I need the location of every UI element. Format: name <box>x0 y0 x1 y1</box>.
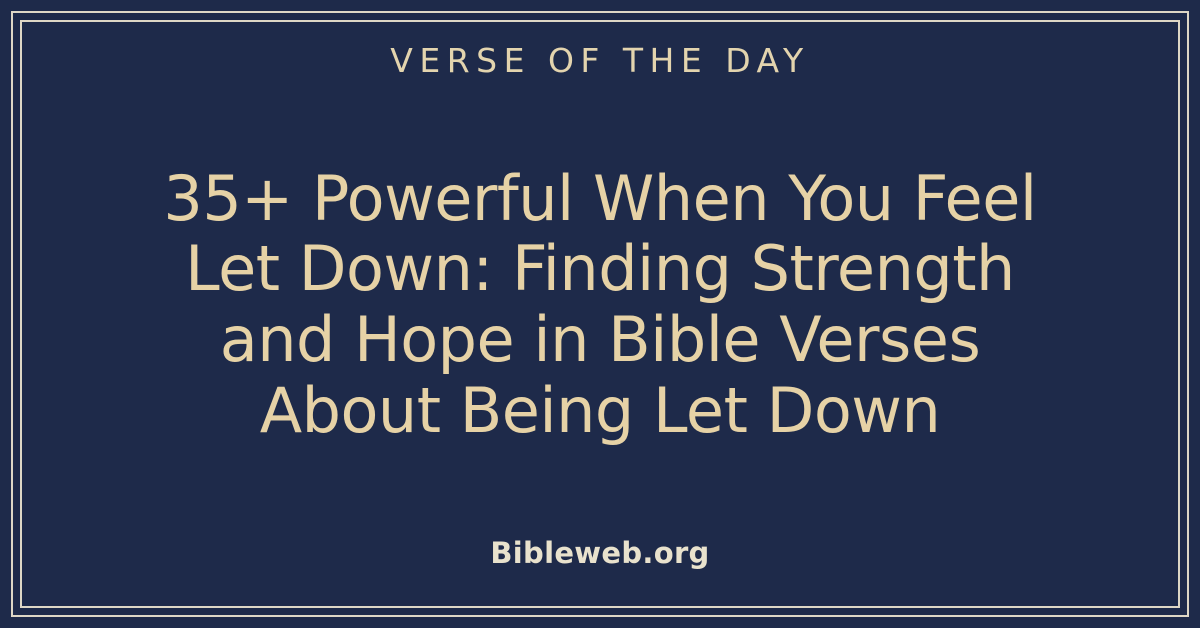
card-content: VERSE OF THE DAY 35+ Powerful When You F… <box>30 30 1170 598</box>
page-title: 35+ Powerful When You Feel Let Down: Fin… <box>95 164 1105 447</box>
title-line-4: About Being Let Down <box>95 376 1105 447</box>
title-block: 35+ Powerful When You Feel Let Down: Fin… <box>30 71 1170 539</box>
verse-of-the-day-card: VERSE OF THE DAY 35+ Powerful When You F… <box>0 0 1200 628</box>
title-line-1: 35+ Powerful When You Feel <box>95 164 1105 235</box>
title-line-3: and Hope in Bible Verses <box>95 305 1105 376</box>
title-line-2: Let Down: Finding Strength <box>95 234 1105 305</box>
site-name-footer: Bibleweb.org <box>490 539 709 568</box>
